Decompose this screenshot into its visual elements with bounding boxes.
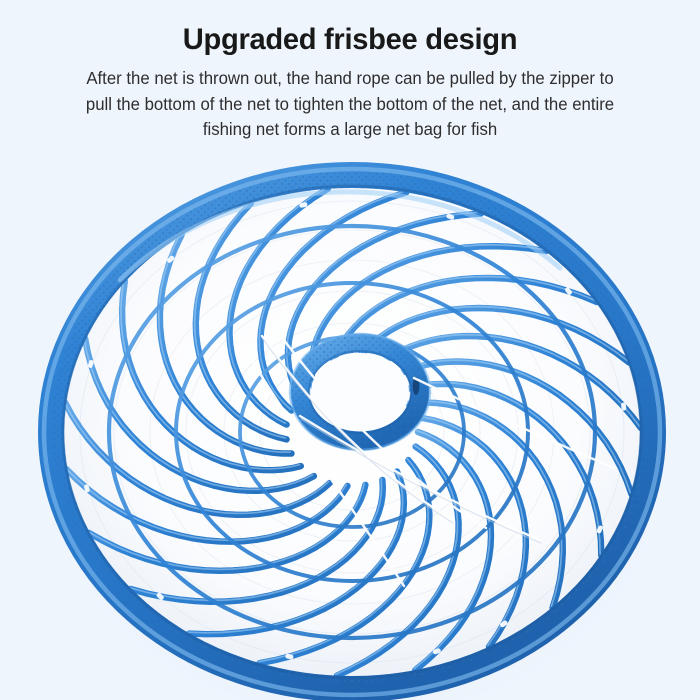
description-line-3: fishing net forms a large net bag for fi… xyxy=(35,117,665,143)
description-text: After the net is thrown out, the hand ro… xyxy=(35,66,665,143)
product-detail-image: Upgraded frisbee design After the net is… xyxy=(0,0,700,700)
description-line-2: pull the bottom of the net to tighten th… xyxy=(35,92,665,118)
center-hub xyxy=(290,334,430,450)
page-title: Upgraded frisbee design xyxy=(11,22,690,58)
header-text-block: Upgraded frisbee design After the net is… xyxy=(0,0,700,143)
description-line-1: After the net is thrown out, the hand ro… xyxy=(35,66,665,92)
